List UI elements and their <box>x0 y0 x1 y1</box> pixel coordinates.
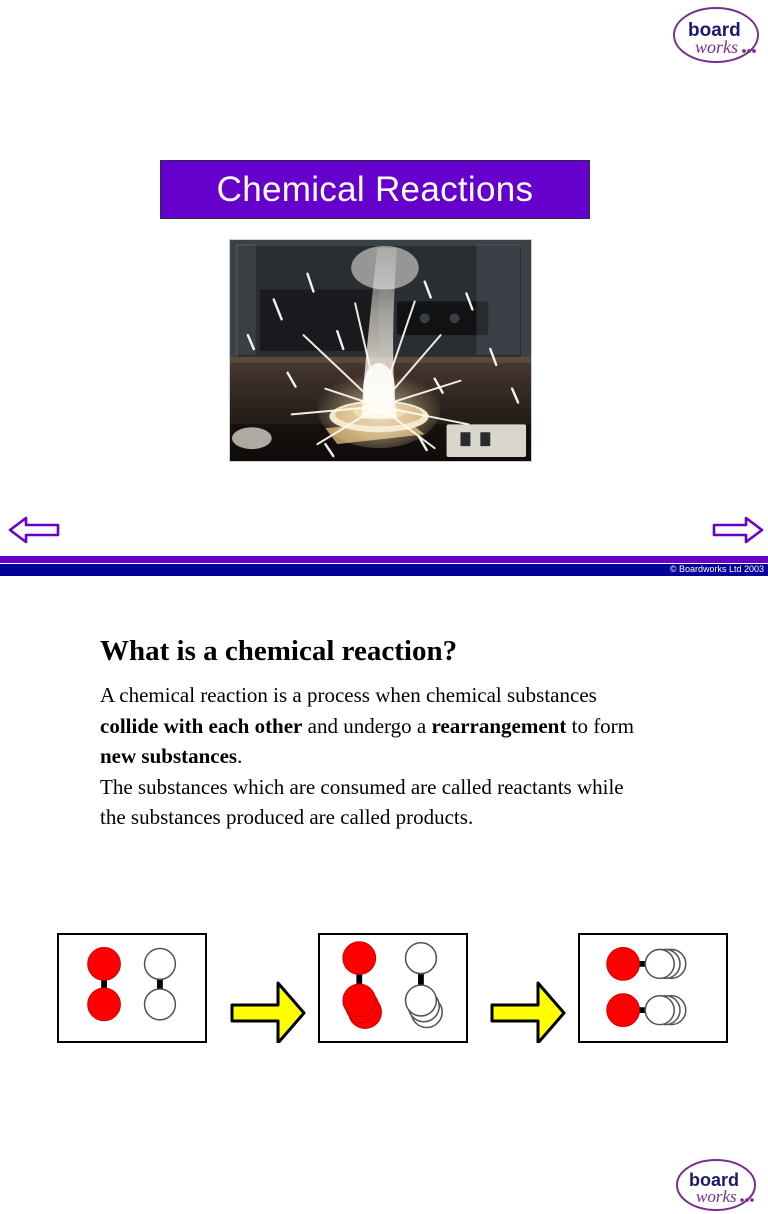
svg-text:works: works <box>695 37 738 57</box>
products-panel <box>578 933 728 1043</box>
emphasis-text: new substances <box>100 744 237 768</box>
paragraph: The substances which are consumed are ca… <box>100 772 640 833</box>
page-title: Chemical Reactions <box>217 172 534 207</box>
text-run: to form <box>566 714 634 738</box>
reaction-diagram <box>0 933 768 1024</box>
slide-chemical-reactions-title: board works Chemical Reactions <box>0 0 768 576</box>
boardworks-logo: board works <box>668 4 764 66</box>
text-run: A chemical reaction is a process when ch… <box>100 683 597 707</box>
footer-bar: © Boardworks Ltd 2003 <box>0 564 768 576</box>
page-title: What is a chemical reaction? <box>100 635 457 668</box>
text-run: The substances which are consumed are ca… <box>100 775 624 830</box>
slide-title-banner: Chemical Reactions <box>160 160 590 219</box>
body-paragraphs: A chemical reaction is a process when ch… <box>100 680 640 833</box>
boardworks-logo: board works <box>672 1156 760 1214</box>
next-slide-arrow-icon[interactable] <box>712 515 764 545</box>
svg-text:works: works <box>696 1187 737 1206</box>
collision-panel <box>318 933 468 1043</box>
reaction-arrow-icon <box>230 979 306 1043</box>
previous-slide-arrow-icon[interactable] <box>8 515 60 545</box>
chemical-reaction-photograph <box>229 239 532 462</box>
text-run: . <box>237 744 242 768</box>
reactants-panel <box>57 933 207 1043</box>
emphasis-text: collide with each other <box>100 714 302 738</box>
text-run: and undergo a <box>302 714 431 738</box>
purple-divider-rule <box>0 556 768 563</box>
paragraph: A chemical reaction is a process when ch… <box>100 680 640 772</box>
emphasis-text: rearrangement <box>431 714 566 738</box>
reaction-arrow-icon <box>490 979 566 1043</box>
slide-what-is-a-chemical-reaction: board works What is a chemical reaction?… <box>0 576 768 1024</box>
copyright-text: © Boardworks Ltd 2003 <box>670 563 764 576</box>
